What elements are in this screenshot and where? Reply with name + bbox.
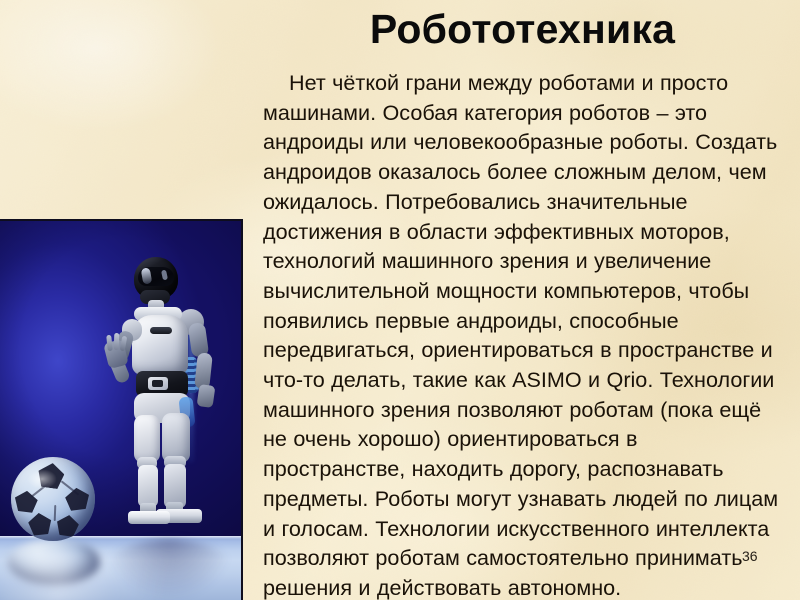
robot-finger <box>114 333 120 350</box>
body-paragraph: Нет чёткой грани между роботами и просто… <box>263 68 781 600</box>
page-number: 36 <box>742 548 758 564</box>
robot-photo <box>0 219 243 600</box>
soccer-ball <box>11 457 95 541</box>
floor-sheen <box>0 551 241 600</box>
humanoid-robot <box>104 257 236 547</box>
ball-highlight <box>27 469 57 489</box>
robot-finger <box>106 335 113 351</box>
robot-left-thigh <box>134 415 160 463</box>
robot-waist-badge <box>152 380 163 387</box>
page-title: Робототехника <box>250 6 795 52</box>
ball-panel <box>63 484 93 514</box>
robot-left-shin <box>138 465 158 507</box>
robot-chest-panel <box>150 327 172 334</box>
photo-scene <box>0 221 241 600</box>
ball-seam <box>54 505 57 521</box>
robot-left-foot <box>128 511 170 524</box>
robot-right-hand <box>197 384 216 408</box>
slide-canvas: Робототехника Нет чёткой грани между роб… <box>0 0 800 600</box>
